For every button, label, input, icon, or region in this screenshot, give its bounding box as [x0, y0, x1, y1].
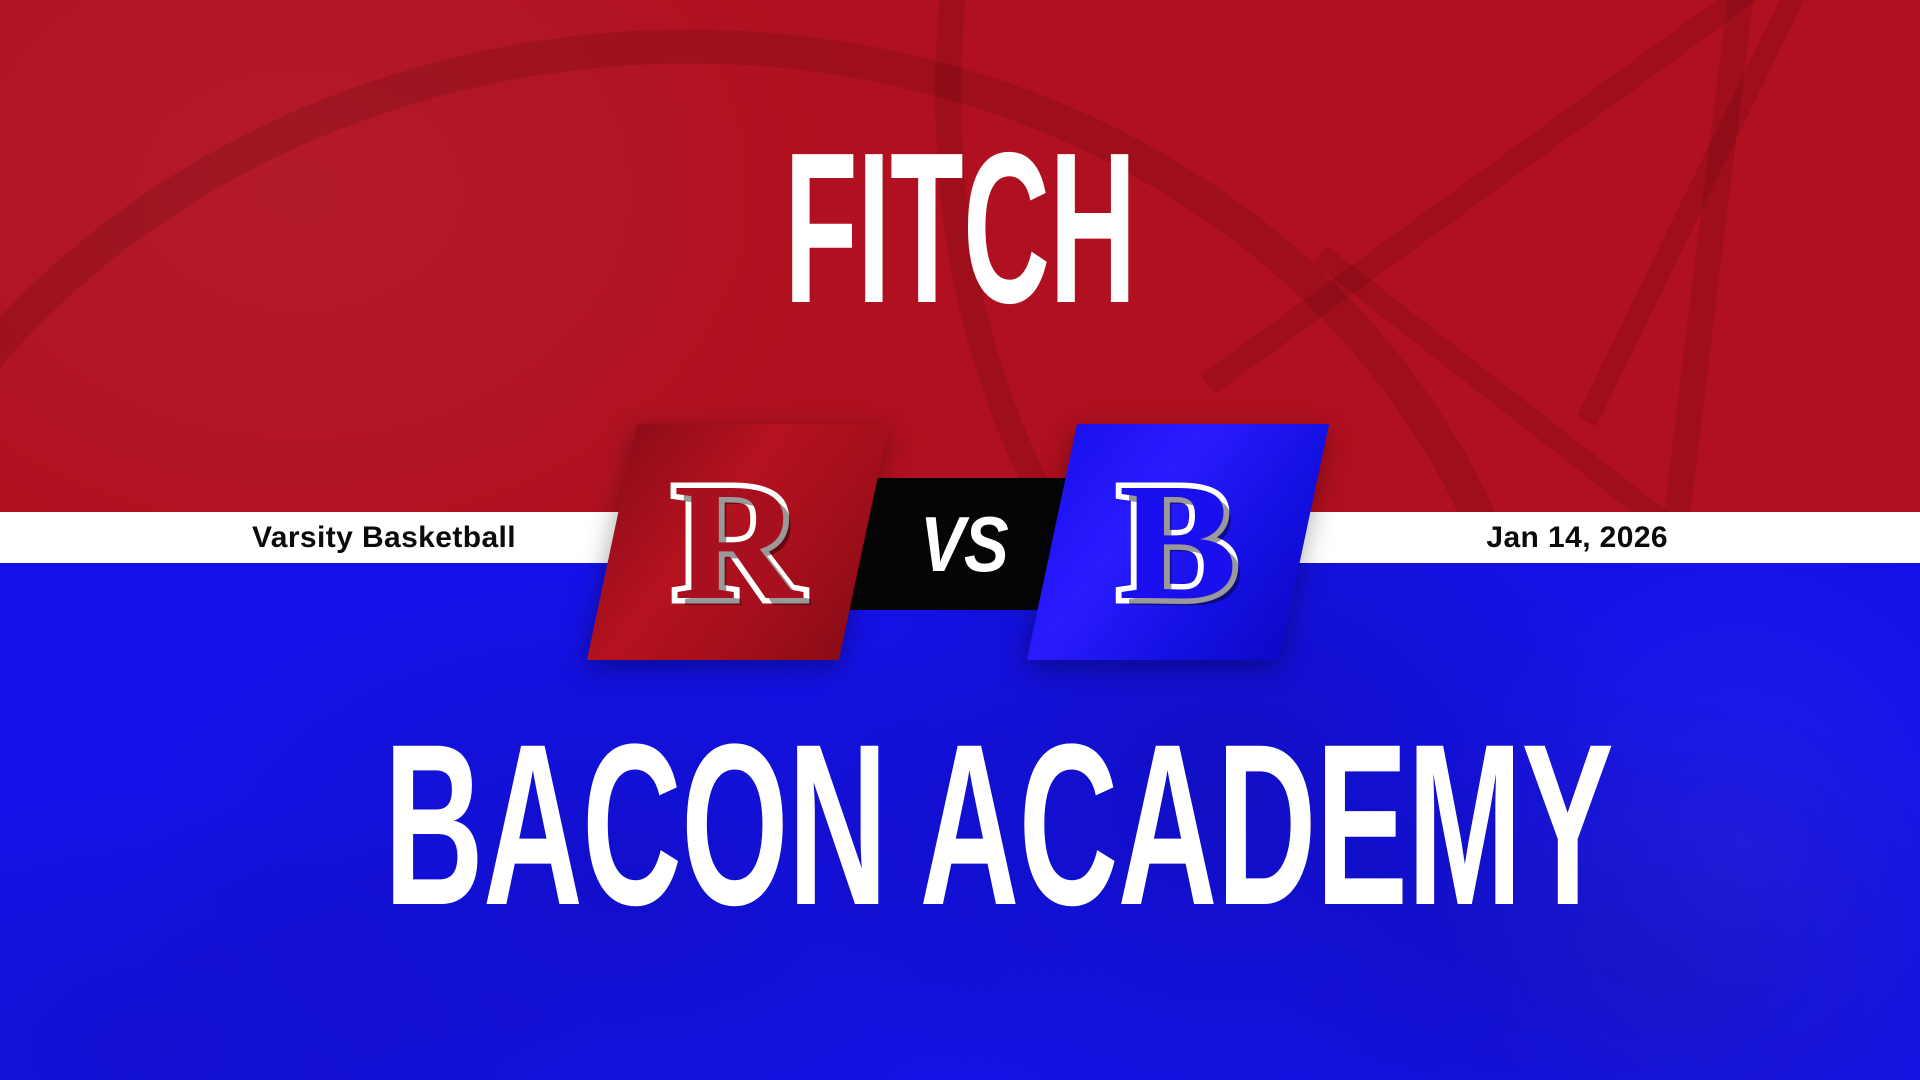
game-date-label: Jan 14, 2026: [1486, 512, 1668, 563]
sport-label: Varsity Basketball: [252, 512, 516, 563]
matchup-graphic: FITCH BACON ACADEMY Varsity Basketball J…: [0, 0, 1920, 1080]
home-team-name: FITCH: [422, 120, 1497, 335]
info-bar: Varsity Basketball Jan 14, 2026: [0, 512, 1920, 563]
away-team-name: BACON ACADEMY: [384, 710, 1536, 940]
